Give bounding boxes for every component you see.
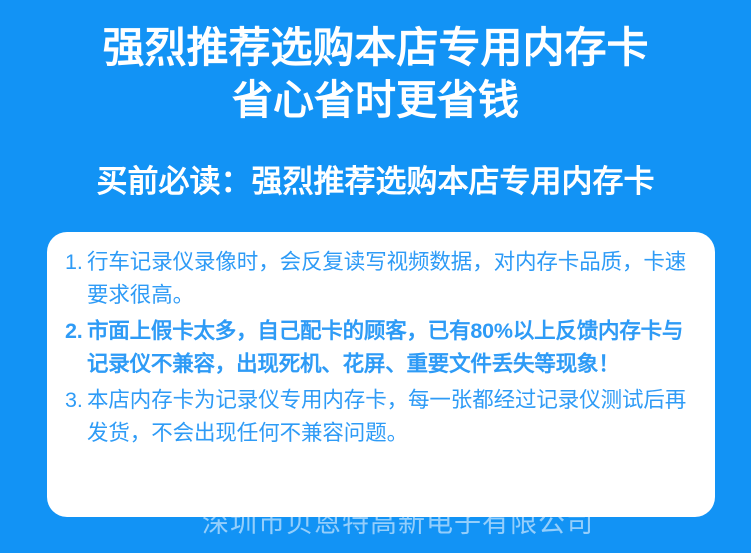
notice-panel: 1.行车记录仪录像时，会反复读写视频数据，对内存卡品质，卡速要求很高。 2.市面… bbox=[47, 232, 715, 517]
list-item-number: 3. bbox=[65, 384, 83, 417]
page-title: 强烈推荐选购本店专用内存卡 省心省时更省钱 bbox=[0, 22, 751, 126]
list-item: 2.市面上假卡太多，自己配卡的顾客，已有80%以上反馈内存卡与记录仪不兼容，出现… bbox=[65, 315, 697, 381]
list-item: 1.行车记录仪录像时，会反复读写视频数据，对内存卡品质，卡速要求很高。 bbox=[65, 246, 697, 312]
list-item-text: 市面上假卡太多，自己配卡的顾客，已有80%以上反馈内存卡与记录仪不兼容，出现死机… bbox=[87, 319, 683, 376]
promo-poster: 强烈推荐选购本店专用内存卡 省心省时更省钱 买前必读：强烈推荐选购本店专用内存卡… bbox=[0, 0, 751, 553]
list-item-text: 本店内存卡为记录仪专用内存卡，每一张都经过记录仪测试后再发货，不会出现任何不兼容… bbox=[87, 388, 686, 445]
headline-line-1: 强烈推荐选购本店专用内存卡 bbox=[0, 22, 751, 74]
list-item: 3.本店内存卡为记录仪专用内存卡，每一张都经过记录仪测试后再发货，不会出现任何不… bbox=[65, 384, 697, 450]
list-item-text: 行车记录仪录像时，会反复读写视频数据，对内存卡品质，卡速要求很高。 bbox=[87, 250, 686, 307]
headline-line-2: 省心省时更省钱 bbox=[0, 74, 751, 126]
subheadline: 买前必读：强烈推荐选购本店专用内存卡 bbox=[0, 162, 751, 202]
list-item-number: 1. bbox=[65, 246, 83, 279]
list-item-number: 2. bbox=[65, 315, 83, 348]
